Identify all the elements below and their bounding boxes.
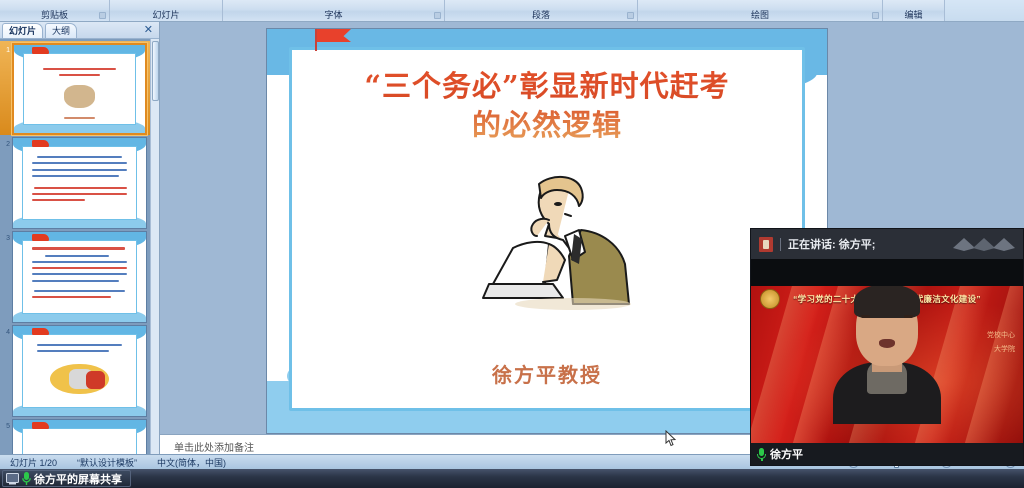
microphone-icon[interactable] (757, 448, 766, 461)
thumbnail-list[interactable]: 1 (0, 39, 150, 454)
participant-name-bar: 徐方平 (751, 443, 1023, 465)
ribbon-group-label: 编辑 (904, 10, 922, 20)
participant-name: 徐方平 (770, 446, 803, 462)
scrollbar-thumb[interactable] (152, 41, 159, 101)
taskbar: 徐方平的屏幕共享 (0, 469, 1024, 488)
current-slide[interactable]: “三个务必”彰显新时代赶考 的必然逻辑 (267, 29, 827, 433)
thumbnail-canvas (14, 45, 145, 133)
flag-icon (32, 140, 49, 147)
ribbon-empty-area (945, 0, 1024, 21)
language-indicator[interactable]: 中文(简体，中国) (147, 456, 236, 469)
tab-outline[interactable]: 大纲 (45, 23, 77, 38)
thumbnail-slide-4[interactable] (12, 325, 147, 417)
ribbon-group-slides[interactable]: 幻灯片 (110, 0, 223, 21)
microphone-icon (22, 472, 31, 485)
thumbnail-canvas (13, 420, 146, 454)
dialog-launcher-icon[interactable] (434, 12, 441, 19)
list-item[interactable]: 3 (0, 229, 150, 323)
thumbnail-scrollbar[interactable] (150, 39, 159, 454)
slide-title-line-1: “三个务必”彰显新时代赶考 (267, 67, 827, 106)
ribbon-group-label: 字体 (324, 10, 342, 20)
list-item[interactable]: 2 (0, 135, 150, 229)
thumbnail-number: 5 (1, 419, 10, 430)
list-item[interactable]: 1 (0, 41, 150, 135)
thumbnail-slide-2[interactable] (12, 137, 147, 229)
flag-icon (32, 422, 49, 429)
taskbar-item-label: 徐方平的屏幕共享 (34, 471, 122, 487)
ribbon-group-clipboard[interactable]: 剪贴板 (0, 0, 110, 21)
video-stage[interactable]: “学习党的二十大精神 推进新时代廉洁文化建设” 报告会 党校中心 大学院 (751, 259, 1023, 465)
ribbon-group-label: 段落 (532, 10, 550, 20)
ribbon-group-editing[interactable]: 编辑 (883, 0, 945, 21)
ribbon-group-paragraph[interactable]: 段落 (445, 0, 638, 21)
slide-author[interactable]: 徐方平教授 (267, 359, 827, 388)
backdrop-side-text-2: 大学院 (994, 344, 1015, 354)
thumbnail-canvas (13, 138, 146, 228)
ribbon-group-label: 绘图 (751, 10, 769, 20)
thumbnail-frame (22, 240, 136, 314)
ribbon-group-label: 幻灯片 (152, 10, 179, 20)
close-icon[interactable]: ✕ (144, 25, 153, 36)
list-item[interactable]: 5 (0, 417, 150, 454)
app-logo-icon (759, 237, 773, 252)
list-item[interactable]: 4 (0, 323, 150, 417)
video-conference-panel[interactable]: 正在讲话: 徐方平; “学习党的二十大精神 推进新时代廉洁文化建设” 报告会 党… (750, 228, 1024, 466)
backdrop-side-text-1: 党校中心 (987, 330, 1015, 340)
thumbnail-canvas (13, 232, 146, 322)
thumbnail-canvas (13, 326, 146, 416)
slide-counter: 幻灯片 1/20 (0, 456, 67, 469)
ribbon-group-label: 剪贴板 (41, 10, 68, 20)
thumbnail-number: 3 (1, 231, 10, 242)
slide-thumbnail-pane: 幻灯片 大纲 ✕ 1 (0, 22, 160, 454)
ribbon-group-font[interactable]: 字体 (223, 0, 445, 21)
video-feed: “学习党的二十大精神 推进新时代廉洁文化建设” 报告会 党校中心 大学院 (751, 286, 1023, 446)
divider (780, 238, 781, 251)
flag-icon (32, 328, 49, 335)
ribbon-group-drawing[interactable]: 绘图 (638, 0, 883, 21)
tab-slides[interactable]: 幻灯片 (2, 23, 43, 38)
flag-icon (32, 47, 49, 54)
dialog-launcher-icon[interactable] (99, 12, 106, 19)
slide-title-line-2: 的必然逻辑 (267, 106, 827, 145)
mouse-cursor-icon (665, 430, 677, 447)
thumbnail-frame (22, 428, 136, 454)
flag-icon (32, 234, 49, 241)
taskbar-item-screen-share[interactable]: 徐方平的屏幕共享 (2, 470, 131, 487)
thumbnail-slide-3[interactable] (12, 231, 147, 323)
thumbnail-number: 1 (1, 43, 10, 54)
participant-video-image (833, 292, 941, 424)
thumbnail-number: 2 (1, 137, 10, 148)
slide-title[interactable]: “三个务必”彰显新时代赶考 的必然逻辑 (267, 67, 827, 145)
video-panel-header: 正在讲话: 徐方平; (751, 229, 1023, 259)
notes-placeholder: 单击此处添加备注 (174, 443, 254, 454)
pane-tab-bar: 幻灯片 大纲 ✕ (0, 22, 159, 39)
design-template-name[interactable]: “默认设计模板” (67, 456, 147, 469)
ribbon: 剪贴板 幻灯片 字体 段落 绘图 编辑 (0, 0, 1024, 22)
thumbnail-slide-1[interactable] (12, 43, 147, 135)
screen-share-icon (6, 473, 19, 485)
screen: 剪贴板 幻灯片 字体 段落 绘图 编辑 幻灯片 大纲 ✕ (0, 0, 1024, 488)
dialog-launcher-icon[interactable] (627, 12, 634, 19)
collapse-chevron-icon[interactable] (951, 235, 1017, 253)
dialog-launcher-icon[interactable] (872, 12, 879, 19)
thumbnail-number: 4 (1, 325, 10, 336)
thumbnail-slide-5[interactable] (12, 419, 147, 454)
man-thinking-at-laptop-icon (453, 164, 643, 314)
flag-icon (315, 29, 355, 51)
speaking-status-label: 正在讲话: 徐方平; (788, 236, 875, 252)
